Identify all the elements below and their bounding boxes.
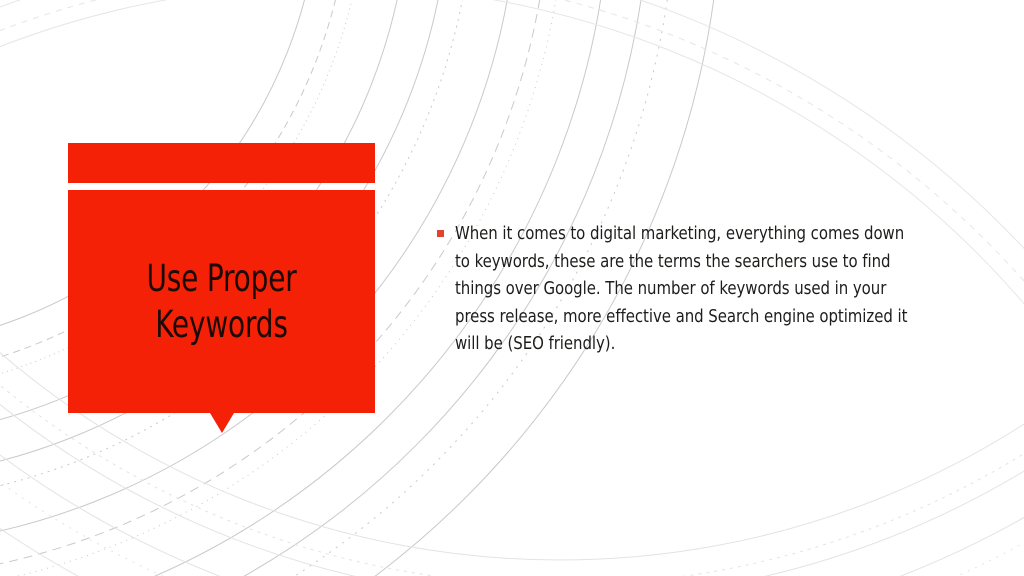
callout-body: Use Proper Keywords bbox=[68, 190, 375, 413]
callout-panel: Use Proper Keywords bbox=[68, 143, 375, 413]
callout-top-bar bbox=[68, 143, 375, 183]
body-content: When it comes to digital marketing, ever… bbox=[437, 221, 945, 359]
slide: Use Proper Keywords When it comes to dig… bbox=[0, 0, 1024, 576]
callout-pointer-triangle-icon bbox=[210, 413, 234, 433]
callout-title: Use Proper Keywords bbox=[93, 256, 351, 346]
bullet-paragraph: When it comes to digital marketing, ever… bbox=[455, 221, 923, 359]
list-item: When it comes to digital marketing, ever… bbox=[437, 221, 945, 359]
square-bullet-icon bbox=[437, 230, 444, 237]
